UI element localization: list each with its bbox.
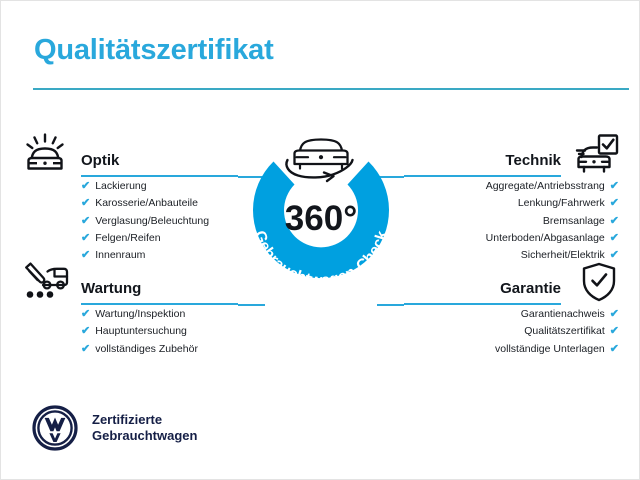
check-icon: ✔	[81, 233, 90, 244]
list-item: Garantienachweis✔	[404, 306, 619, 323]
list-item: Lenkung/Fahrwerk✔	[404, 195, 619, 212]
section-optik-list: ✔Lackierung ✔Karosserie/Anbauteile ✔Verg…	[81, 178, 238, 264]
section-wartung-header: Wartung	[23, 260, 238, 306]
section-optik-header: Optik	[23, 132, 238, 178]
section-wartung-list: ✔Wartung/Inspektion ✔Hauptuntersuchung ✔…	[81, 306, 238, 358]
list-item: ✔Lackierung	[81, 178, 238, 195]
section-garantie-underline	[404, 303, 561, 305]
list-item-label: Qualitätszertifikat	[524, 323, 605, 340]
check-icon: ✔	[610, 216, 619, 227]
section-wartung-title: Wartung	[81, 280, 141, 297]
list-item-label: vollständige Unterlagen	[495, 341, 605, 358]
check-icon: ✔	[81, 344, 90, 355]
list-item: ✔Hauptuntersuchung	[81, 323, 238, 340]
check-icon: ✔	[610, 344, 619, 355]
list-item-label: vollständiges Zubehör	[95, 341, 198, 358]
title-divider	[33, 88, 629, 90]
check-icon: ✔	[610, 309, 619, 320]
shield-check-icon	[567, 260, 619, 304]
badge-center-label: 360°	[285, 199, 357, 238]
list-item: ✔Wartung/Inspektion	[81, 306, 238, 323]
section-technik-header: Technik	[404, 132, 619, 178]
section-garantie: Garantie Garantienachweis✔ Qualitätszert…	[404, 260, 619, 358]
check-icon: ✔	[610, 181, 619, 192]
list-item: Unterboden/Abgasanlage✔	[404, 230, 619, 247]
section-optik-title: Optik	[81, 152, 119, 169]
section-wartung-underline	[81, 303, 238, 305]
check-icon: ✔	[610, 198, 619, 209]
list-item: ✔vollständiges Zubehör	[81, 341, 238, 358]
list-item: ✔Verglasung/Beleuchtung	[81, 213, 238, 230]
list-item: ✔Karosserie/Anbauteile	[81, 195, 238, 212]
360-degree-check-badge: Gebrauchtwagen-Check 360°	[227, 123, 415, 311]
section-technik-title: Technik	[505, 152, 561, 169]
list-item: ✔Felgen/Reifen	[81, 230, 238, 247]
footer-line-2: Gebrauchtwagen	[92, 428, 197, 444]
list-item: Aggregate/Antriebsstrang✔	[404, 178, 619, 195]
list-item-label: Wartung/Inspektion	[95, 306, 185, 323]
list-item-label: Unterboden/Abgasanlage	[486, 230, 605, 247]
section-garantie-header: Garantie	[404, 260, 619, 306]
check-icon: ✔	[81, 181, 90, 192]
list-item-label: Aggregate/Antriebsstrang	[486, 178, 605, 195]
footer-brand-text: Zertifizierte Gebrauchtwagen	[92, 412, 197, 444]
list-item-label: Garantienachweis	[521, 306, 605, 323]
list-item-label: Verglasung/Beleuchtung	[95, 213, 209, 230]
check-icon: ✔	[610, 326, 619, 337]
section-wartung: Wartung ✔Wartung/Inspektion ✔Hauptunters…	[23, 260, 238, 358]
car-rotate-icon	[286, 140, 352, 182]
quality-certificate-page: Qualitätszertifikat	[0, 0, 640, 480]
car-checkbox-icon	[567, 132, 619, 176]
footer-brand: Zertifizierte Gebrauchtwagen	[32, 405, 197, 451]
wrench-car-icon	[23, 260, 75, 304]
list-item: Bremsanlage✔	[404, 213, 619, 230]
section-technik: Technik Aggregate/Antriebsstrang✔ Lenkun…	[404, 132, 619, 264]
list-item-label: Felgen/Reifen	[95, 230, 160, 247]
shiny-car-icon	[23, 132, 75, 176]
check-icon: ✔	[81, 326, 90, 337]
volkswagen-logo	[32, 405, 78, 451]
section-technik-underline	[404, 175, 561, 177]
list-item-label: Lenkung/Fahrwerk	[518, 195, 605, 212]
list-item: vollständige Unterlagen✔	[404, 341, 619, 358]
list-item-label: Karosserie/Anbauteile	[95, 195, 198, 212]
list-item: Qualitätszertifikat✔	[404, 323, 619, 340]
check-icon: ✔	[610, 233, 619, 244]
check-icon: ✔	[81, 198, 90, 209]
check-icon: ✔	[81, 309, 90, 320]
section-technik-list: Aggregate/Antriebsstrang✔ Lenkung/Fahrwe…	[404, 178, 619, 264]
list-item-label: Hauptuntersuchung	[95, 323, 187, 340]
section-garantie-title: Garantie	[500, 280, 561, 297]
footer-line-1: Zertifizierte	[92, 412, 197, 428]
section-optik: Optik ✔Lackierung ✔Karosserie/Anbauteile…	[23, 132, 238, 264]
section-garantie-list: Garantienachweis✔ Qualitätszertifikat✔ v…	[404, 306, 619, 358]
page-title: Qualitätszertifikat	[34, 34, 274, 67]
check-icon: ✔	[81, 216, 90, 227]
list-item-label: Lackierung	[95, 178, 146, 195]
list-item-label: Bremsanlage	[543, 213, 605, 230]
section-optik-underline	[81, 175, 238, 177]
